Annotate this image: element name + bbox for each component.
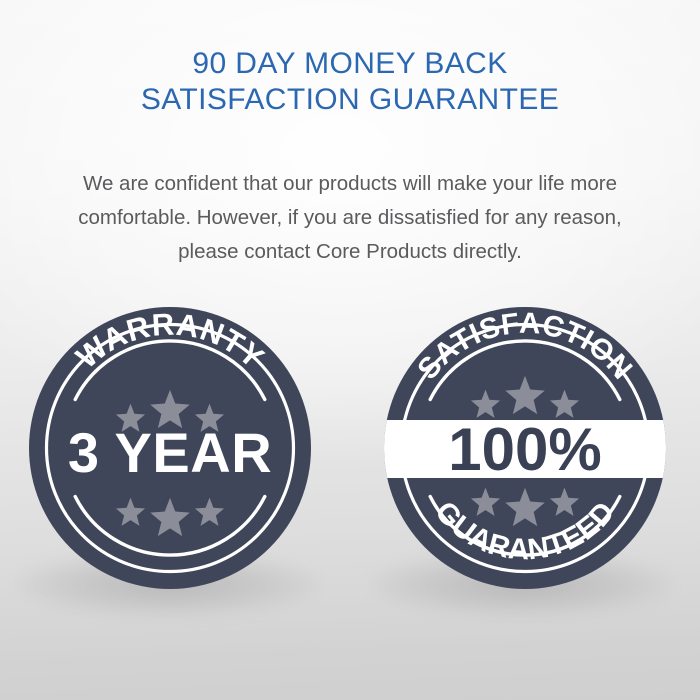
body-copy: We are confident that our products will …: [0, 167, 700, 269]
body-line-3: please contact Core Products directly.: [0, 235, 700, 269]
page-title: 90 DAY MONEY BACK SATISFACTION GUARANTEE: [0, 46, 700, 118]
guaranteed-band-text: 100%: [448, 416, 601, 483]
title-line-2: SATISFACTION GUARANTEE: [0, 82, 700, 118]
guarantee-poster: 90 DAY MONEY BACK SATISFACTION GUARANTEE…: [0, 0, 700, 700]
warranty-badge: WARRANTY 3 YEAR: [29, 307, 311, 589]
warranty-center-text: 3 YEAR: [68, 421, 272, 484]
title-line-1: 90 DAY MONEY BACK: [0, 46, 700, 82]
guaranteed-badge: 100% SATISFACTION GUARANTEED: [384, 307, 666, 589]
body-line-1: We are confident that our products will …: [0, 167, 700, 201]
body-line-2: comfortable. However, if you are dissati…: [0, 201, 700, 235]
